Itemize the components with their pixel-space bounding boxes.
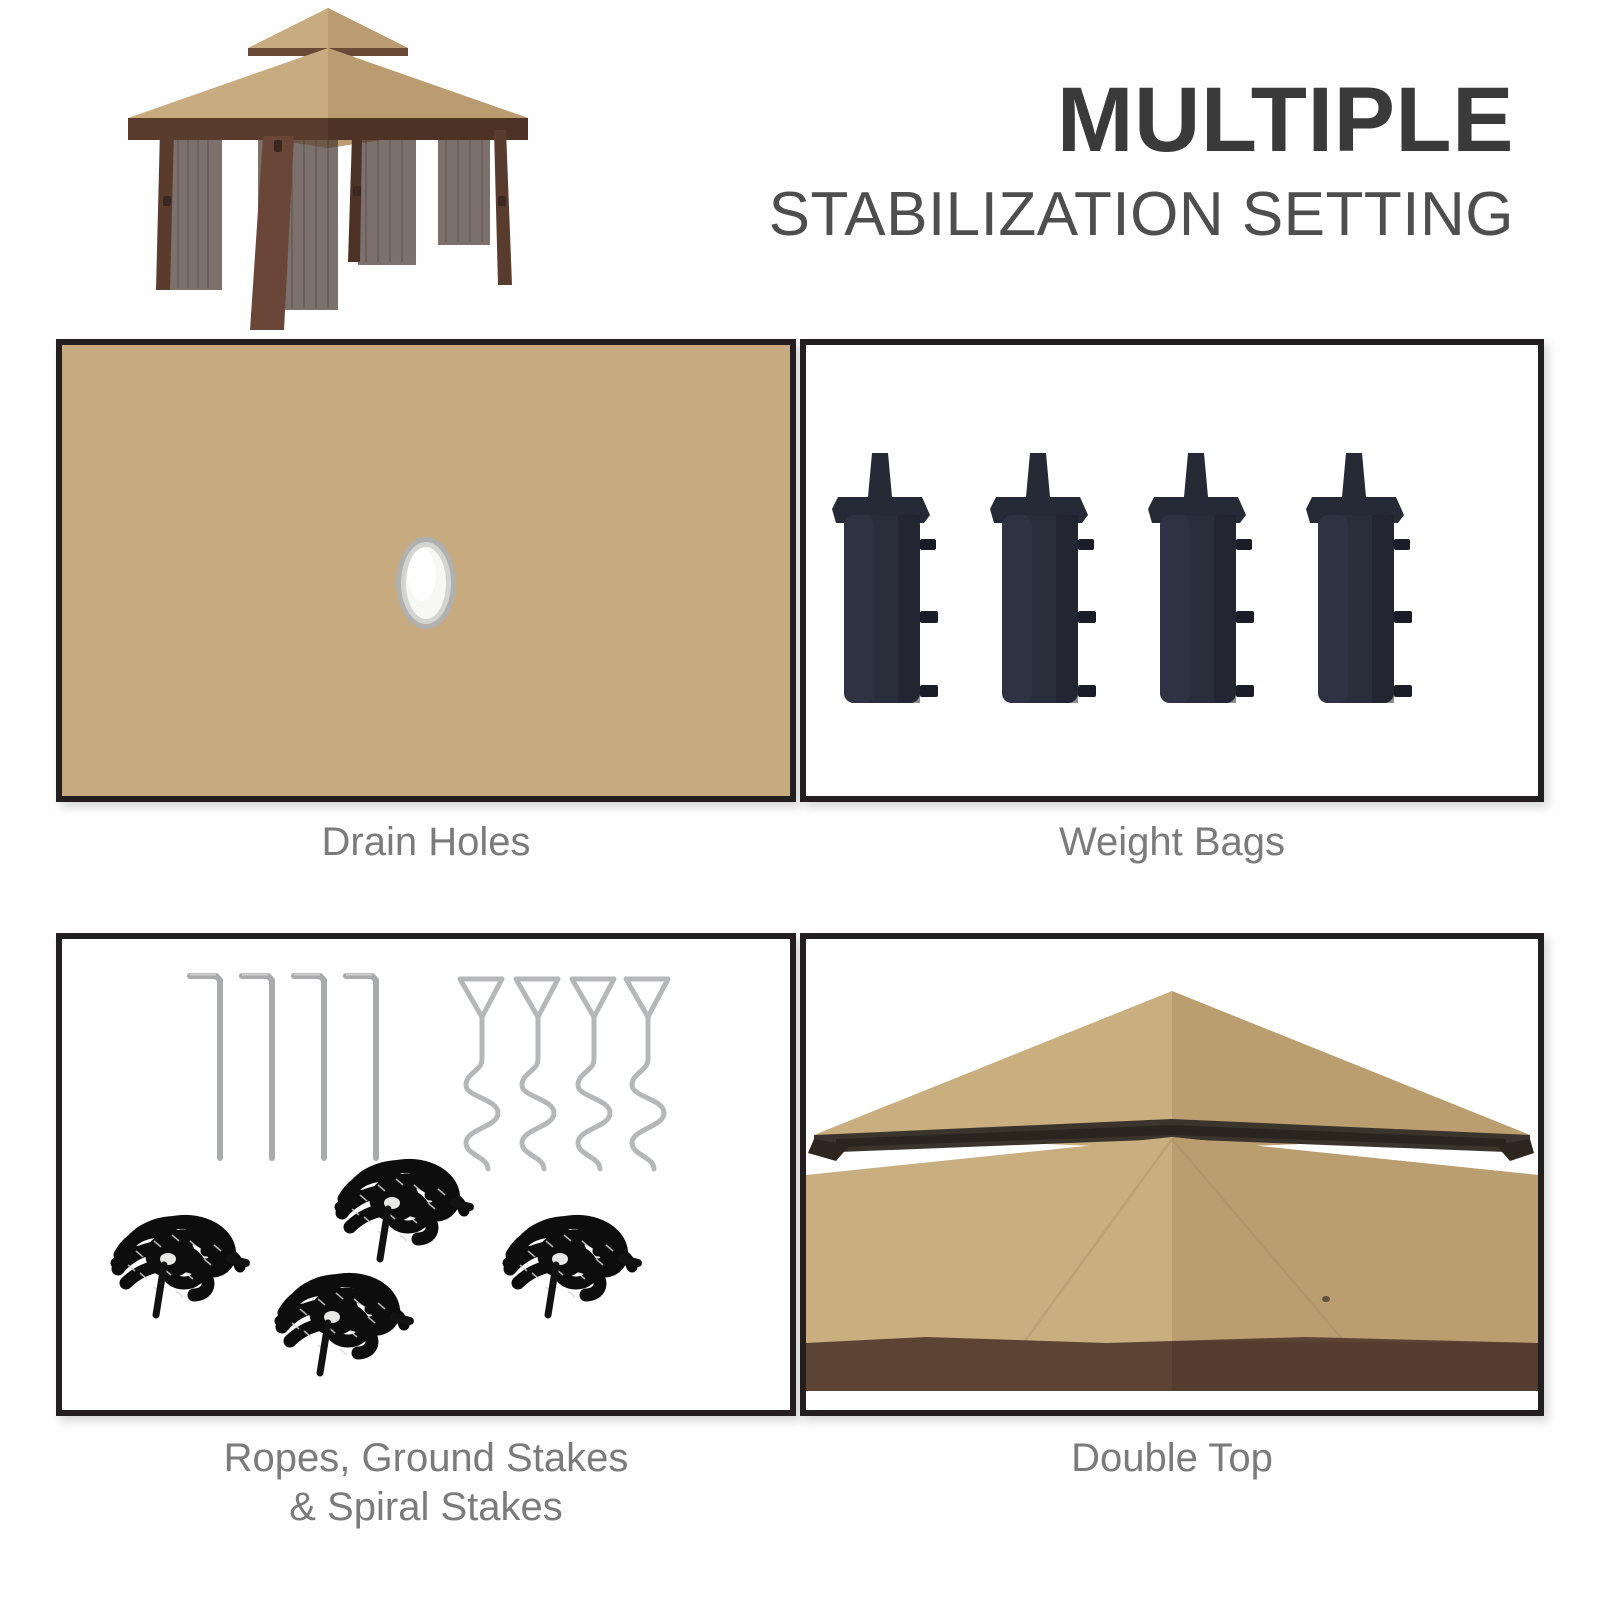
ropes-and-stakes-image xyxy=(62,939,790,1410)
double-top-image xyxy=(806,939,1538,1410)
caption-double-top: Double Top xyxy=(800,1434,1544,1483)
caption-line-1: Double Top xyxy=(1071,1436,1273,1480)
page-title: MULTIPLE xyxy=(514,74,1514,166)
caption-line-1: Weight Bags xyxy=(1059,820,1285,864)
panel-double-top xyxy=(800,933,1544,1416)
drain-holes-image xyxy=(62,345,790,796)
infographic-root: MULTIPLE STABILIZATION SETTING Drain Hol… xyxy=(0,0,1600,1600)
drain-grommet xyxy=(396,537,456,629)
weight-bags-image xyxy=(806,345,1538,796)
gazebo-hero-image xyxy=(108,0,548,335)
caption-ropes-stakes: Ropes, Ground Stakes & Spiral Stakes xyxy=(56,1434,796,1532)
caption-weight-bags: Weight Bags xyxy=(800,818,1544,867)
caption-line-2: & Spiral Stakes xyxy=(56,1483,796,1532)
panel-drain-holes xyxy=(56,339,796,802)
caption-line-1: Drain Holes xyxy=(322,820,531,864)
page-subtitle: STABILIZATION SETTING xyxy=(514,176,1514,254)
panel-ropes-stakes xyxy=(56,933,796,1416)
caption-line-1: Ropes, Ground Stakes xyxy=(224,1436,629,1480)
panel-weight-bags xyxy=(800,339,1544,802)
caption-drain-holes: Drain Holes xyxy=(56,818,796,867)
header-block: MULTIPLE STABILIZATION SETTING xyxy=(514,74,1514,254)
